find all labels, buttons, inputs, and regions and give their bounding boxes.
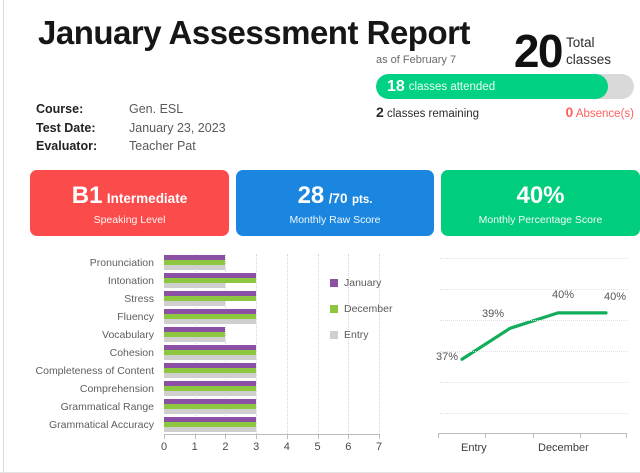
bar-chart-category-label: Vocabulary (10, 326, 162, 344)
bar-chart-tick (348, 434, 349, 439)
raw-score-unit: pts. (352, 194, 372, 206)
attended-label: classes attended (409, 81, 495, 93)
bar-entry (164, 355, 256, 360)
as-of-date: as of February 7 (376, 54, 456, 66)
attended-number: 18 (387, 78, 405, 96)
bar-chart-category-label: Grammatical Accuracy (10, 416, 162, 434)
bar-entry (164, 283, 225, 288)
line-chart-tick (580, 433, 581, 438)
bar-chart-tick (379, 434, 380, 439)
bar-chart-tick-label: 7 (369, 441, 389, 453)
line-chart-gridline (440, 382, 628, 384)
line-chart-tick-label: Entry (461, 442, 487, 454)
line-chart-series (436, 250, 628, 435)
attendance-progress-track: 18 classes attended (376, 74, 634, 99)
bar-chart-row (164, 398, 379, 416)
line-chart-gridline (440, 289, 628, 291)
bar-chart-tick-label: 5 (308, 441, 328, 453)
bar-chart-category-label: Stress (10, 290, 162, 308)
legend-label: Entry (344, 329, 369, 341)
bar-chart-tick (318, 434, 319, 439)
bar-entry (164, 409, 256, 414)
bar-chart-category-label: Cohesion (10, 344, 162, 362)
line-chart-data-label: 37% (436, 351, 458, 363)
card-speaking-level-value-line: B1 Intermediate (30, 184, 229, 208)
line-chart-gridline (440, 258, 628, 260)
line-chart-axis-line (438, 433, 626, 434)
score-cards: B1 Intermediate Speaking Level 28 /70 pt… (30, 170, 640, 236)
attendance-footer: 2 classes remaining 0 Absence(s) (376, 104, 634, 120)
bar-december (164, 422, 256, 427)
remaining-number: 2 (376, 104, 384, 120)
absence-count: 0 Absence(s) (565, 104, 634, 120)
bar-chart-category-label: Completeness of Content (10, 362, 162, 380)
line-chart-plot-area (436, 250, 628, 435)
bar-chart-tick-label: 4 (277, 441, 297, 453)
info-row: Evaluator:Teacher Pat (36, 137, 226, 156)
bar-chart-tick-label: 6 (338, 441, 358, 453)
speaking-level-suffix: Intermediate (107, 191, 187, 206)
card-speaking-level-caption: Speaking Level (30, 214, 229, 226)
attendance-summary: 20 Total classes as of February 7 18 cla… (376, 32, 634, 84)
bar-january (164, 399, 256, 404)
bar-chart-category-label: Grammatical Range (10, 398, 162, 416)
bar-january (164, 291, 256, 296)
line-chart-data-label: 40% (552, 289, 574, 301)
classes-remaining: 2 classes remaining (376, 104, 479, 120)
card-percentage-score: 40% Monthly Percentage Score (441, 170, 640, 236)
bar-entry (164, 373, 256, 378)
bar-january (164, 363, 256, 368)
bar-december (164, 278, 256, 283)
bar-chart-tick (164, 434, 165, 439)
percentage-score-value: 40% (516, 182, 564, 209)
bar-chart-category-label: Fluency (10, 308, 162, 326)
card-raw-score-caption: Monthly Raw Score (236, 214, 434, 226)
bar-chart-category-label: Pronunciation (10, 254, 162, 272)
remaining-label: classes remaining (387, 108, 479, 120)
info-row-value: Teacher Pat (129, 137, 196, 156)
bar-chart-row (164, 362, 379, 380)
raw-score-denominator: /70 (329, 191, 348, 206)
bar-entry (164, 427, 256, 432)
report-page: January Assessment Report 20 Total class… (0, 0, 640, 473)
bar-chart-row (164, 380, 379, 398)
card-raw-score-value-line: 28 /70 pts. (236, 184, 434, 208)
legend-item-december[interactable]: December (330, 300, 392, 318)
bar-chart-category-labels: PronunciationIntonationStressFluencyVoca… (10, 254, 162, 434)
info-row-key: Course: (36, 100, 129, 119)
card-percentage-caption: Monthly Percentage Score (441, 214, 640, 226)
legend-label: December (344, 303, 392, 315)
bar-chart-row (164, 254, 379, 272)
line-chart-tick (533, 433, 534, 438)
bar-entry (164, 391, 256, 396)
bar-chart-row (164, 416, 379, 434)
bar-december (164, 332, 225, 337)
bar-entry (164, 301, 225, 306)
bar-chart-tick (195, 434, 196, 439)
speaking-level-value: B1 (72, 182, 103, 209)
bar-entry (164, 319, 256, 324)
legend-item-entry[interactable]: Entry (330, 326, 392, 344)
line-chart-gridline (440, 413, 628, 415)
info-row-key: Test Date: (36, 119, 129, 138)
bar-entry (164, 265, 225, 270)
legend-swatch-icon (330, 305, 338, 313)
legend-label: January (344, 277, 381, 289)
card-speaking-level: B1 Intermediate Speaking Level (30, 170, 229, 236)
raw-score-value: 28 (298, 182, 325, 209)
legend-item-january[interactable]: January (330, 274, 392, 292)
line-chart-data-label: 39% (482, 308, 504, 320)
bar-january (164, 273, 256, 278)
bar-december (164, 260, 225, 265)
info-row-key: Evaluator: (36, 137, 129, 156)
line-chart-gridline (440, 351, 628, 353)
line-chart-tick (626, 433, 627, 438)
bar-chart-category-label: Comprehension (10, 380, 162, 398)
absence-label: Absence(s) (576, 108, 634, 120)
bar-chart-tick-label: 0 (154, 441, 174, 453)
line-chart-data-label: 40% (604, 291, 626, 303)
attendance-progress-fill: 18 classes attended (376, 74, 608, 99)
info-row: Test Date:January 23, 2023 (36, 119, 226, 138)
bar-january (164, 327, 225, 332)
bar-chart-tick-label: 1 (185, 441, 205, 453)
info-row-value: Gen. ESL (129, 100, 183, 119)
total-classes-number: 20 (514, 28, 562, 74)
bar-december (164, 350, 256, 355)
bar-chart-tick-label: 2 (215, 441, 235, 453)
bar-december (164, 368, 256, 373)
absence-number: 0 (565, 104, 573, 120)
bar-january (164, 381, 256, 386)
line-chart-tick (485, 433, 486, 438)
bar-chart-tick (256, 434, 257, 439)
bar-december (164, 296, 256, 301)
card-percentage-value-line: 40% (441, 184, 640, 208)
bar-december (164, 404, 256, 409)
bar-entry (164, 337, 225, 342)
bar-january (164, 255, 225, 260)
bar-chart-tick (287, 434, 288, 439)
bar-january (164, 417, 256, 422)
legend-swatch-icon (330, 331, 338, 339)
student-info-table: Course:Gen. ESLTest Date:January 23, 202… (36, 100, 226, 156)
bar-chart-x-axis (164, 434, 379, 435)
bar-december (164, 386, 256, 391)
bar-chart-tick (225, 434, 226, 439)
info-row-value: January 23, 2023 (129, 119, 226, 138)
progress-line-chart: 37%39%40%40% EntryDecember (428, 250, 636, 450)
bar-chart-category-label: Intonation (10, 272, 162, 290)
legend-swatch-icon (330, 279, 338, 287)
total-classes-label: Total classes (566, 34, 634, 68)
line-chart-tick (438, 433, 439, 438)
line-chart-tick-label: December (538, 442, 589, 454)
card-raw-score: 28 /70 pts. Monthly Raw Score (236, 170, 434, 236)
left-edge-rule (3, 0, 4, 473)
bar-december (164, 314, 256, 319)
bar-january (164, 309, 256, 314)
bar-chart-tick-label: 3 (246, 441, 266, 453)
line-chart-gridline (440, 320, 628, 322)
info-row: Course:Gen. ESL (36, 100, 226, 119)
bar-chart-legend: JanuaryDecemberEntry (330, 274, 392, 352)
bar-january (164, 345, 256, 350)
